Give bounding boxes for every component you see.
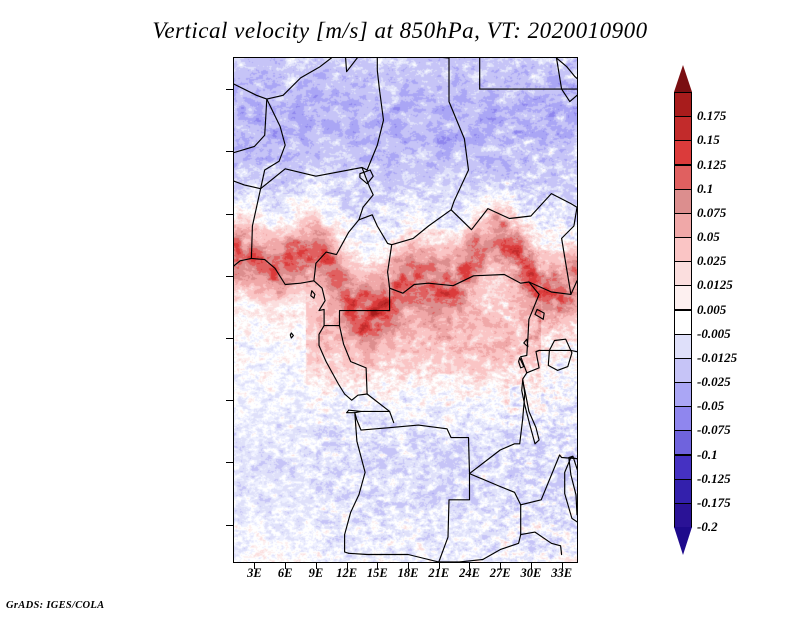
border-line	[521, 505, 562, 555]
border-line	[345, 394, 368, 400]
colorbar-tick-label: 0.005	[697, 302, 726, 318]
border-line	[362, 89, 384, 170]
border-line	[522, 380, 539, 444]
x-axis-tick-mark	[285, 563, 286, 569]
x-axis-tick-mark	[531, 563, 532, 569]
border-line	[449, 58, 469, 210]
border-line	[234, 258, 251, 265]
border-line	[439, 560, 483, 563]
border-line	[319, 346, 345, 395]
y-axis-tick-mark	[226, 525, 233, 526]
colorbar-segment	[674, 479, 692, 504]
colorbar-segment	[674, 334, 692, 359]
y-axis-tick-mark	[226, 151, 233, 152]
border-line	[524, 339, 528, 347]
colorbar-segment	[674, 165, 692, 190]
border-line	[290, 333, 293, 338]
colorbar-segment	[674, 503, 692, 528]
border-line	[439, 474, 470, 562]
border-line	[557, 58, 578, 102]
colorbar-tick-label: -0.1	[697, 447, 718, 463]
colorbar-segment	[674, 285, 692, 310]
x-axis-tick-mark	[377, 563, 378, 569]
border-line	[345, 413, 366, 554]
colorbar-segment	[674, 116, 692, 141]
colorbar-segment	[674, 358, 692, 383]
colorbar-segment	[674, 213, 692, 238]
border-line	[349, 410, 390, 411]
colorbar-segment	[674, 261, 692, 286]
y-axis-tick-mark	[226, 214, 233, 215]
colorbar-cap-bottom	[674, 527, 692, 555]
border-line	[569, 456, 577, 517]
y-axis-tick-mark	[226, 400, 233, 401]
border-line	[314, 168, 373, 281]
y-axis-tick-mark	[226, 276, 233, 277]
colorbar-segment	[674, 455, 692, 480]
colorbar-tick-label: 0.0125	[697, 277, 733, 293]
border-line	[251, 189, 260, 259]
border-line	[377, 58, 379, 89]
colorbar-segment	[674, 92, 692, 117]
border-line	[470, 474, 521, 505]
border-line	[340, 326, 368, 394]
colorbar-tick-label: 0.175	[697, 108, 726, 124]
colorbar-segment	[674, 140, 692, 165]
x-axis-tick-mark	[439, 563, 440, 569]
border-line	[349, 553, 439, 562]
colorbar-tick-label: -0.025	[697, 374, 731, 390]
colorbar-tick-label: -0.0125	[697, 350, 737, 366]
border-line	[346, 58, 378, 72]
border-line	[388, 245, 529, 294]
footer-credit: GrADS: IGES/COLA	[6, 600, 104, 611]
border-line	[392, 210, 451, 245]
colorbar-tick-label: -0.2	[697, 519, 718, 535]
x-axis-tick-mark	[500, 563, 501, 569]
border-line	[261, 168, 362, 189]
colorbar-tick-label: 0.075	[697, 205, 726, 221]
border-line	[355, 413, 470, 474]
x-axis-tick-mark	[408, 563, 409, 569]
colorbar-tick-label: 0.125	[697, 157, 726, 173]
border-line	[267, 58, 332, 99]
border-line	[483, 535, 521, 560]
border-line	[324, 288, 390, 325]
border-line	[470, 282, 540, 474]
colorbar-tick-label: 0.15	[697, 132, 720, 148]
colorbar-segment	[674, 310, 692, 335]
colorbar-tick-label: -0.005	[697, 326, 731, 342]
x-axis-tick-mark	[469, 563, 470, 569]
y-axis-tick-mark	[226, 462, 233, 463]
colorbar[interactable]	[674, 65, 692, 555]
x-axis-tick-mark	[562, 563, 563, 569]
border-line	[234, 99, 267, 153]
border-line	[251, 258, 314, 284]
map-plot-area	[233, 57, 578, 563]
colorbar-segment	[674, 382, 692, 407]
colorbar-tick-label: 0.1	[697, 181, 713, 197]
border-line	[548, 339, 572, 370]
colorbar-segment	[674, 430, 692, 455]
border-line	[319, 326, 324, 346]
border-line	[451, 194, 577, 230]
border-line	[367, 394, 394, 423]
colorbar-tick-label: -0.05	[697, 398, 724, 414]
border-line	[234, 84, 267, 99]
colorbar-segment	[674, 237, 692, 262]
x-axis-tick-mark	[347, 563, 348, 569]
border-line	[311, 291, 315, 299]
x-axis-tick-mark	[316, 563, 317, 569]
colorbar-cap-top	[674, 65, 692, 92]
country-borders-overlay	[234, 58, 577, 562]
border-line	[359, 215, 392, 245]
colorbar-tick-label: 0.025	[697, 253, 726, 269]
page-title: Vertical velocity [m/s] at 850hPa, VT: 2…	[0, 18, 800, 44]
x-axis-tick-mark	[254, 563, 255, 569]
border-line	[535, 309, 544, 319]
colorbar-tick-label: -0.125	[697, 471, 731, 487]
y-axis-tick-mark	[226, 89, 233, 90]
border-line	[536, 350, 539, 351]
border-line	[562, 207, 577, 294]
colorbar-segment	[674, 189, 692, 214]
colorbar-tick-label: -0.175	[697, 495, 731, 511]
colorbar-tick-label: 0.05	[697, 229, 720, 245]
colorbar-segment	[674, 406, 692, 431]
border-line	[360, 170, 373, 184]
colorbar-tick-label: -0.075	[697, 422, 731, 438]
y-axis-tick-mark	[226, 338, 233, 339]
border-line	[314, 281, 325, 326]
